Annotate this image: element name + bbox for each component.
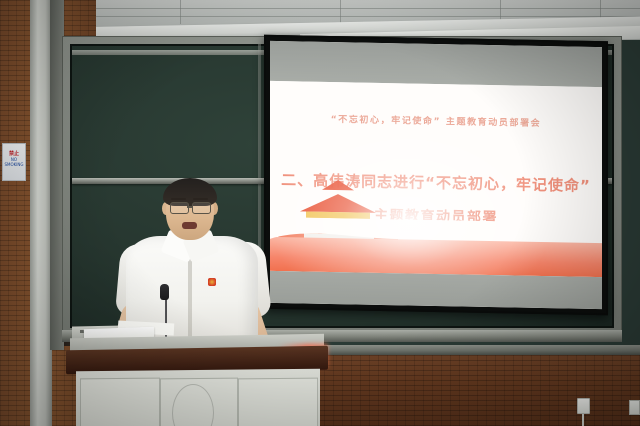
- photo-scene: “不忘初心，牢记使命” 主题教育动员部署会 二、高伟涛同志进行“不忘初心，牢记使…: [0, 0, 640, 426]
- glasses-bridge: [187, 206, 192, 208]
- wall-pillar: [30, 0, 52, 426]
- wall-sign: 禁止 NO SMOKING: [2, 143, 26, 181]
- wall-outlet-secondary: [629, 400, 640, 415]
- wall-outlet-conduit: [582, 414, 584, 426]
- glasses-lens-left: [170, 202, 189, 214]
- glasses-lens-right: [192, 202, 211, 214]
- shirt-placket: [188, 250, 192, 350]
- eyebrow-left: [171, 198, 186, 200]
- wall-sign-line-2: NO SMOKING: [3, 157, 25, 167]
- eyebrow-right: [193, 198, 208, 200]
- screen-border-bottom: [270, 271, 602, 309]
- podium-panel-right: [238, 378, 318, 426]
- screen-surface: “不忘初心，牢记使命” 主题教育动员部署会 二、高伟涛同志进行“不忘初心，牢记使…: [270, 41, 602, 309]
- screen-border-top: [270, 41, 602, 87]
- slide-bottom-wave-decoration: [270, 217, 602, 257]
- party-badge-pin: [208, 278, 216, 286]
- podium: [66, 336, 328, 426]
- presentation-slide: “不忘初心，牢记使命” 主题教育动员部署会 二、高伟涛同志进行“不忘初心，牢记使…: [270, 81, 602, 277]
- podium-panel-left: [80, 378, 160, 426]
- wall-outlet: [577, 398, 590, 414]
- microphone-icon: [160, 284, 169, 300]
- speaker-mouth: [182, 222, 197, 229]
- projection-screen: “不忘初心，牢记使命” 主题教育动员部署会 二、高伟涛同志进行“不忘初心，牢记使…: [264, 35, 608, 316]
